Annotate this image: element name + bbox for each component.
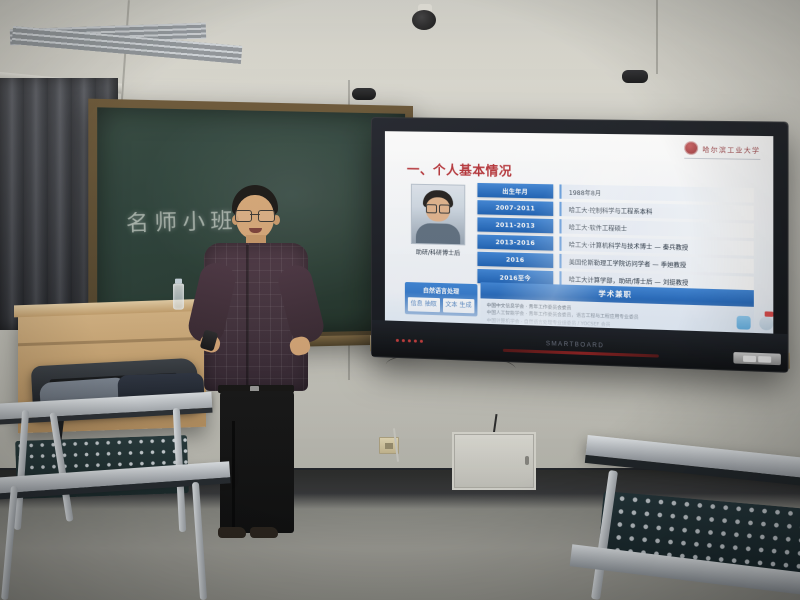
- access-panel[interactable]: [452, 432, 536, 490]
- panel-latch[interactable]: [525, 456, 529, 465]
- timeline-value: 美国伦斯勒理工学院访问学者 — 季姮教授: [559, 254, 753, 274]
- timeline-value: 哈工大·计算机科学与技术博士 — 秦兵教授: [559, 237, 753, 256]
- timeline-list: 出生年月 1988年8月 2007-2011 哈工大·控制科学与工程系本科 20…: [477, 183, 753, 294]
- presenter-shoe-right: [250, 527, 278, 538]
- slide-title: 一、个人基本情况: [407, 159, 512, 180]
- timeline-key: 2011-2013: [477, 217, 553, 233]
- shirt-placket: [246, 245, 249, 391]
- classroom-lecture-photo: 名师小班 哈尔滨工业大学 一、个人基本情况: [0, 0, 800, 600]
- chat-icon[interactable]: [737, 316, 751, 330]
- glasses-icon: [235, 210, 275, 220]
- timeline-key: 2013-2016: [477, 235, 553, 251]
- water-bottle: [173, 284, 184, 310]
- camera-lens: [412, 10, 436, 30]
- timeline-key: 2007-2011: [477, 200, 553, 216]
- sensor-icon: [352, 88, 376, 100]
- notification-badge: [765, 311, 774, 316]
- bottle-cap: [175, 279, 182, 284]
- timeline-value: 1988年8月: [559, 184, 753, 202]
- university-logo: 哈尔滨工业大学: [684, 141, 760, 160]
- sensor-icon-secondary: [622, 70, 648, 83]
- avatar: [411, 184, 465, 246]
- display-brand-label: SMARTBOARD: [546, 341, 604, 349]
- list-item: 出生年月 1988年8月: [477, 183, 753, 203]
- speaker-photo-block: 助研/科研博士后: [409, 184, 467, 258]
- wall-seam-right: [656, 0, 658, 74]
- camera-icon: [412, 4, 438, 30]
- photo-caption: 助研/科研博士后: [409, 247, 467, 258]
- presenter: [196, 185, 314, 555]
- timeline-key: 出生年月: [477, 183, 553, 199]
- lectern-trim: [18, 337, 206, 347]
- university-name: 哈尔滨工业大学: [702, 143, 760, 154]
- trouser-seam: [232, 421, 235, 533]
- timeline-value: 哈工大·软件工程硕士: [559, 219, 753, 238]
- display-control-buttons[interactable]: [733, 352, 781, 365]
- university-crest-icon: [684, 141, 698, 155]
- avatar-body: [416, 223, 460, 244]
- presentation-slide: 哈尔滨工业大学 一、个人基本情况 助研/科研博士后 出生年月 198: [385, 131, 773, 333]
- avatar-glasses-icon: [426, 204, 450, 212]
- timeline-value: 哈工大·控制科学与工程系本科: [559, 202, 753, 221]
- timeline-key: 2016: [477, 252, 553, 268]
- interactive-smartboard[interactable]: 哈尔滨工业大学 一、个人基本情况 助研/科研博士后 出生年月 198: [372, 118, 787, 372]
- display-screen[interactable]: 哈尔滨工业大学 一、个人基本情况 助研/科研博士后 出生年月 198: [385, 131, 773, 333]
- browser-icon[interactable]: [759, 316, 773, 330]
- presenter-shoe-left: [218, 527, 246, 538]
